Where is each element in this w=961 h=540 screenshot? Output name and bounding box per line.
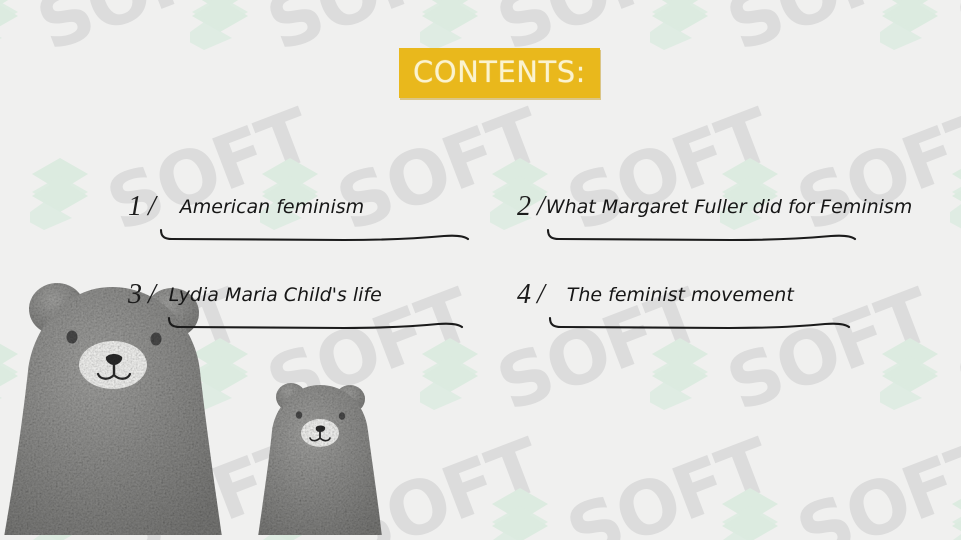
- chevron-s-logo-icon: [490, 488, 550, 540]
- toc-item-3-underline: [166, 314, 466, 336]
- toc-item-3-number: 3: [128, 278, 148, 312]
- toc-item-2-separator: /: [537, 190, 545, 224]
- contents-row-2: 3 / Lydia Maria Child's life 4 / The fem…: [0, 266, 961, 354]
- toc-item-3-separator: /: [148, 278, 156, 312]
- watermark-text: SOFT: [26, 0, 252, 68]
- toc-item-2[interactable]: 2 / What Margaret Fuller did for Feminis…: [517, 190, 912, 224]
- chevron-s-logo-icon: [190, 0, 250, 50]
- watermark-text: SOFT: [556, 423, 782, 540]
- chevron-s-logo-icon: [30, 488, 90, 540]
- toc-item-4[interactable]: 4 / The feminist movement: [517, 278, 794, 312]
- watermark-text: SOFT: [716, 0, 942, 68]
- title-text: CONTENTS:: [413, 55, 586, 89]
- toc-item-4-separator: /: [537, 278, 545, 312]
- small-bear: [258, 383, 382, 535]
- toc-item-2-underline: [545, 226, 861, 248]
- presentation-slide: SOFTSOFTSOFTSOFTSOFTSOFTSOFTSOFTSOFTSOFT…: [0, 0, 961, 540]
- toc-item-2-label: What Margaret Fuller did for Feminism: [545, 190, 913, 224]
- watermark-text: SOFT: [786, 423, 961, 540]
- toc-item-4-number: 4: [517, 278, 537, 312]
- page-title: CONTENTS:: [399, 48, 600, 98]
- toc-item-3[interactable]: 3 / Lydia Maria Child's life: [128, 278, 382, 312]
- toc-item-2-number: 2: [517, 190, 537, 224]
- contents-row-1: 1 / American feminism 2 / What Margaret …: [0, 178, 961, 266]
- chevron-s-logo-icon: [0, 0, 20, 50]
- watermark-unit: SOFT: [260, 480, 560, 540]
- watermark-unit: SOFT: [490, 480, 790, 540]
- toc-item-1-separator: /: [148, 190, 156, 224]
- watermark-text: SOFT: [946, 0, 961, 68]
- chevron-s-logo-icon: [880, 0, 940, 50]
- chevron-s-logo-icon: [950, 488, 961, 540]
- watermark-text: SOFT: [326, 423, 552, 540]
- watermark-unit: SOFT: [880, 0, 961, 110]
- watermark-unit: SOFT: [720, 480, 961, 540]
- toc-item-1-underline: [158, 226, 474, 248]
- chevron-s-logo-icon: [260, 488, 320, 540]
- watermark-text: SOFT: [96, 423, 322, 540]
- toc-item-4-label: The feminist movement: [545, 278, 794, 312]
- toc-item-3-label: Lydia Maria Child's life: [156, 278, 382, 312]
- title-highlight-box: CONTENTS:: [399, 48, 600, 98]
- contents-list: 1 / American feminism 2 / What Margaret …: [0, 178, 961, 354]
- watermark-unit: SOFT: [30, 480, 330, 540]
- chevron-s-logo-icon: [420, 0, 480, 50]
- toc-item-1-label: American feminism: [156, 190, 364, 224]
- watermark-unit: SOFT: [950, 480, 961, 540]
- toc-item-1-number: 1: [128, 190, 148, 224]
- chevron-s-logo-icon: [720, 488, 780, 540]
- watermark-unit: SOFT: [0, 0, 260, 110]
- chevron-s-logo-icon: [650, 0, 710, 50]
- toc-item-4-underline: [547, 314, 853, 336]
- watermark-unit: SOFT: [650, 0, 950, 110]
- toc-item-1[interactable]: 1 / American feminism: [128, 190, 364, 224]
